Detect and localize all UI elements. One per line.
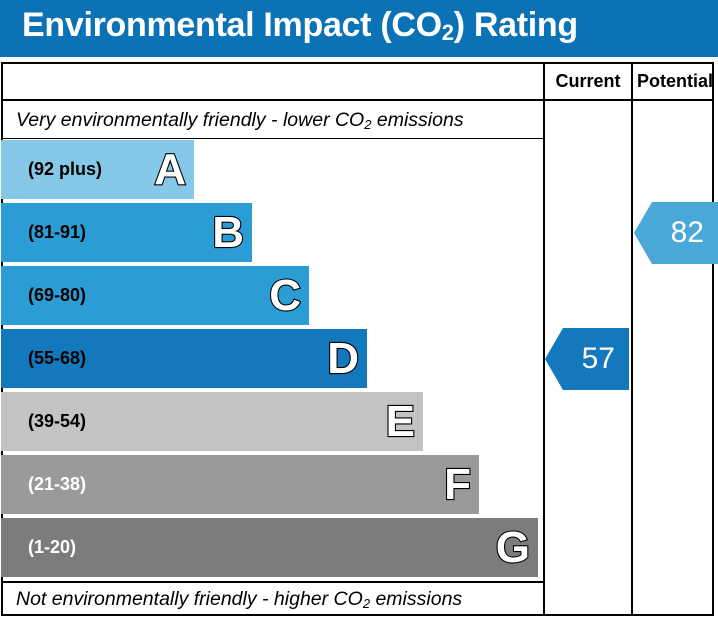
top-caption-post: emissions (371, 109, 463, 131)
bottom-caption-subscript: 2 (363, 596, 370, 611)
current-column-divider (543, 62, 545, 616)
page-title-pre: Environmental Impact (CO (22, 6, 442, 44)
bottom-caption: Not environmentally friendly - higher CO… (16, 588, 462, 611)
top-caption-divider-line (1, 138, 544, 139)
rating-band-c: (69-80)C (1, 266, 309, 325)
potential-column-divider (631, 62, 633, 616)
column-header-potential: Potential (633, 66, 717, 96)
top-caption-subscript: 2 (364, 117, 371, 132)
band-letter-d: D (327, 337, 359, 381)
band-letter-b: B (212, 211, 244, 255)
band-range-label: (1-20) (28, 518, 76, 577)
potential-rating-value: 82 (671, 202, 704, 264)
band-range-label: (21-38) (28, 455, 86, 514)
band-letter-f: F (444, 463, 471, 507)
rating-band-f: (21-38)F (1, 455, 479, 514)
band-letter-c: C (269, 274, 301, 318)
rating-band-e: (39-54)E (1, 392, 423, 451)
bottom-caption-divider-line (1, 581, 544, 583)
header-divider-line (1, 99, 714, 101)
band-letter-g: G (496, 526, 530, 570)
rating-band-b: (81-91)B (1, 203, 252, 262)
column-header-current: Current (545, 66, 631, 96)
band-letter-a: A (154, 148, 186, 192)
page-title-subscript: 2 (442, 20, 454, 45)
rating-band-g: (1-20)G (1, 518, 538, 577)
band-range-label: (81-91) (28, 203, 86, 262)
rating-band-d: (55-68)D (1, 329, 367, 388)
page-title: Environmental Impact (CO2) Rating (22, 6, 578, 45)
band-letter-e: E (386, 400, 415, 444)
rating-band-a: (92 plus)A (1, 140, 194, 199)
current-rating-value: 57 (582, 328, 615, 390)
band-range-label: (69-80) (28, 266, 86, 325)
page-title-post: ) Rating (454, 6, 578, 44)
band-range-label: (55-68) (28, 329, 86, 388)
band-range-label: (39-54) (28, 392, 86, 451)
bottom-caption-post: emissions (370, 588, 462, 610)
bottom-caption-pre: Not environmentally friendly - higher CO (16, 588, 363, 610)
top-caption: Very environmentally friendly - lower CO… (16, 109, 464, 132)
top-caption-pre: Very environmentally friendly - lower CO (16, 109, 364, 131)
band-range-label: (92 plus) (28, 140, 102, 199)
epc-environmental-impact-chart: Environmental Impact (CO2) Rating Curren… (0, 0, 718, 619)
chart-title-bar: Environmental Impact (CO2) Rating (0, 0, 718, 57)
